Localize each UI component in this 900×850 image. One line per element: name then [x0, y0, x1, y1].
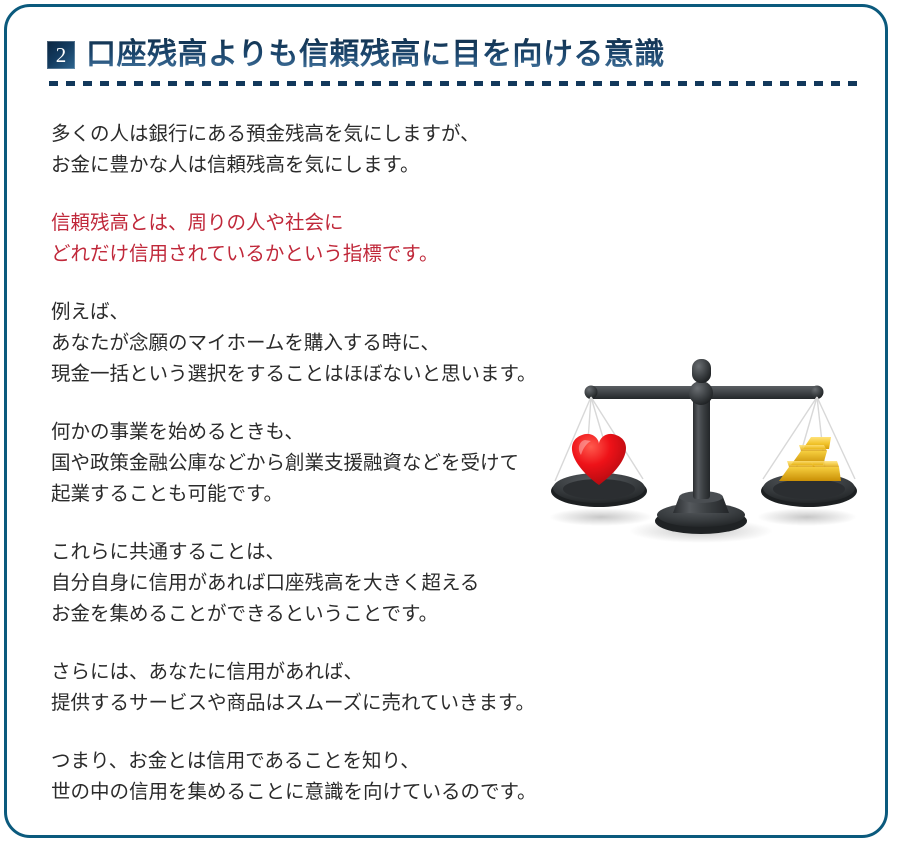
balance-scale-illustration	[539, 345, 869, 550]
body-line: 多くの人は銀行にある預金残高を気にしますが、	[51, 119, 571, 150]
heading-row: 2 口座残高よりも信頼残高に目を向ける意識	[47, 35, 859, 75]
body-paragraph: 多くの人は銀行にある預金残高を気にしますが、お金に豊かな人は信頼残高を気にします…	[51, 119, 571, 181]
gold-bars-icon	[779, 437, 841, 481]
section-number-badge: 2	[47, 41, 75, 69]
body-line: これらに共通することは、	[51, 537, 571, 568]
body-line: 現金一括という選択をすることはほぼないと思います。	[51, 359, 571, 390]
heading-dotted-divider	[49, 81, 863, 86]
body-line: 例えば、	[51, 297, 571, 328]
scale-top-cap	[692, 359, 711, 383]
body-line: つまり、お金とは信用であることを知り、	[51, 746, 571, 777]
beam-right-pivot	[811, 386, 824, 399]
body-line: さらには、あなたに信用があれば、	[51, 657, 571, 688]
beam-left-pivot	[585, 386, 598, 399]
body-line: 国や政策金融公庫などから創業支援融資などを受けて	[51, 448, 571, 479]
body-paragraph: 例えば、あなたが念願のマイホームを購入する時に、現金一括という選択をすることはほ…	[51, 297, 571, 390]
page-title: 口座残高よりも信頼残高に目を向ける意識	[86, 38, 665, 72]
body-line: あなたが念願のマイホームを購入する時に、	[51, 328, 571, 359]
body-line: お金を集めることができるということです。	[51, 599, 571, 630]
body-line: 世の中の信用を集めることに意識を向けているのです。	[51, 777, 571, 808]
section-heading: 2 口座残高よりも信頼残高に目を向ける意識	[47, 35, 859, 93]
body-copy: 多くの人は銀行にある預金残高を気にしますが、お金に豊かな人は信頼残高を気にします…	[51, 119, 571, 808]
body-line: どれだけ信用されているかという指標です。	[51, 239, 571, 270]
body-line: 何かの事業を始めるときも、	[51, 417, 571, 448]
body-line: お金に豊かな人は信頼残高を気にします。	[51, 150, 571, 181]
body-line: 信頼残高とは、周りの人や社会に	[51, 208, 571, 239]
body-paragraph: さらには、あなたに信用があれば、提供するサービスや商品はスムーズに売れていきます…	[51, 657, 571, 719]
page-frame: 2 口座残高よりも信頼残高に目を向ける意識 多くの人は銀行にある預金残高を気にし…	[4, 4, 888, 838]
right-pan-well	[773, 479, 845, 499]
body-paragraph: これらに共通することは、自分自身に信用があれば口座残高を大きく超えるお金を集める…	[51, 537, 571, 630]
body-line: 起業することも可能です。	[51, 479, 571, 510]
body-line: 提供するサービスや商品はスムーズに売れていきます。	[51, 688, 571, 719]
left-pan-shadow	[549, 508, 653, 526]
body-paragraph: つまり、お金とは信用であることを知り、世の中の信用を集めることに意識を向けている…	[51, 746, 571, 808]
scale-post	[693, 391, 710, 499]
right-pan-shadow	[757, 508, 857, 526]
body-paragraph: 何かの事業を始めるときも、国や政策金融公庫などから創業支援融資などを受けて起業す…	[51, 417, 571, 510]
body-line: 自分自身に信用があれば口座残高を大きく超える	[51, 568, 571, 599]
scale-center-joint	[689, 381, 713, 405]
body-paragraph: 信頼残高とは、周りの人や社会にどれだけ信用されているかという指標です。	[51, 208, 571, 270]
